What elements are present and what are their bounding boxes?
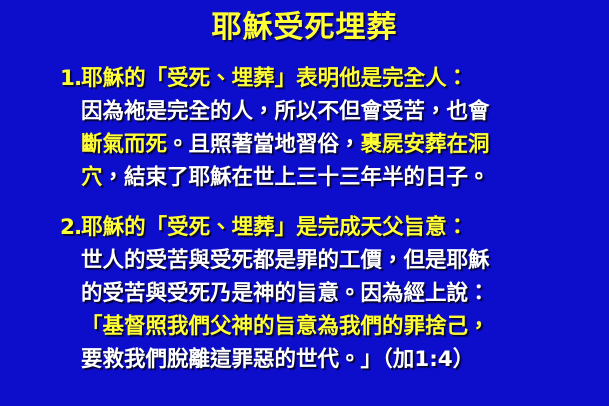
page-title: 耶穌受死埋葬 bbox=[0, 13, 609, 43]
point-2-line-2: 的受苦與受死乃是神的旨意。因為經上說： bbox=[0, 277, 609, 310]
text-segment: 要救我們脫離這罪惡的世代。」（加1:4） bbox=[81, 347, 474, 372]
content-point-2: 2.耶穌的「受死、埋葬」是完成天父旨意： 世人的受苦與受死都是罪的工價，但是耶穌… bbox=[0, 211, 609, 376]
point-2-line-3-scripture-quote: 「基督照我們父神的旨意為我們的罪捨己， bbox=[0, 310, 609, 343]
point-2-line-4-scripture-reference: 要救我們脫離這罪惡的世代。」（加1:4） bbox=[0, 343, 609, 376]
point-1-line-3: 穴，結束了耶穌在世上三十三年半的日子。 bbox=[0, 161, 609, 194]
text-segment: 世人的受苦與受死都是罪的工價，但是耶穌 bbox=[81, 248, 490, 273]
text-segment: 。且照著當地習俗， bbox=[167, 132, 361, 157]
text-segment-highlight: 斷氣而死 bbox=[81, 132, 167, 157]
text-segment-highlight: 裹屍安葬在洞 bbox=[361, 132, 490, 157]
text-segment: ，結束了耶穌在世上三十三年半的日子。 bbox=[103, 165, 490, 190]
point-1-heading-line: 1.耶穌的「受死、埋葬」表明他是完全人： bbox=[0, 62, 609, 95]
point-2-number: 2. bbox=[60, 215, 81, 240]
slide-body: 1.耶穌的「受死、埋葬」表明他是完全人： 因為袘是完全的人，所以不但會受苦，也會… bbox=[0, 62, 609, 398]
text-segment-highlight: 「基督照我們父神的旨意為我們的罪捨己， bbox=[81, 314, 490, 339]
point-2-heading-text: 耶穌的「受死、埋葬」是完成天父旨意： bbox=[81, 215, 468, 240]
point-1-line-2: 斷氣而死。且照著當地習俗，裹屍安葬在洞 bbox=[0, 128, 609, 161]
content-point-1: 1.耶穌的「受死、埋葬」表明他是完全人： 因為袘是完全的人，所以不但會受苦，也會… bbox=[0, 62, 609, 194]
point-1-heading-text: 耶穌的「受死、埋葬」表明他是完全人： bbox=[81, 66, 468, 91]
text-segment: 的受苦與受死乃是神的旨意。因為經上說： bbox=[81, 281, 490, 306]
presentation-slide: 耶穌受死埋葬 1.耶穌的「受死、埋葬」表明他是完全人： 因為袘是完全的人，所以不… bbox=[0, 0, 609, 406]
point-1-line-1: 因為袘是完全的人，所以不但會受苦，也會 bbox=[0, 95, 609, 128]
text-segment: 因為袘是完全的人，所以不但會受苦，也會 bbox=[81, 99, 490, 124]
point-1-number: 1. bbox=[60, 66, 81, 91]
text-segment-highlight: 穴 bbox=[81, 165, 103, 190]
point-2-heading-line: 2.耶穌的「受死、埋葬」是完成天父旨意： bbox=[0, 211, 609, 244]
point-2-line-1: 世人的受苦與受死都是罪的工價，但是耶穌 bbox=[0, 244, 609, 277]
